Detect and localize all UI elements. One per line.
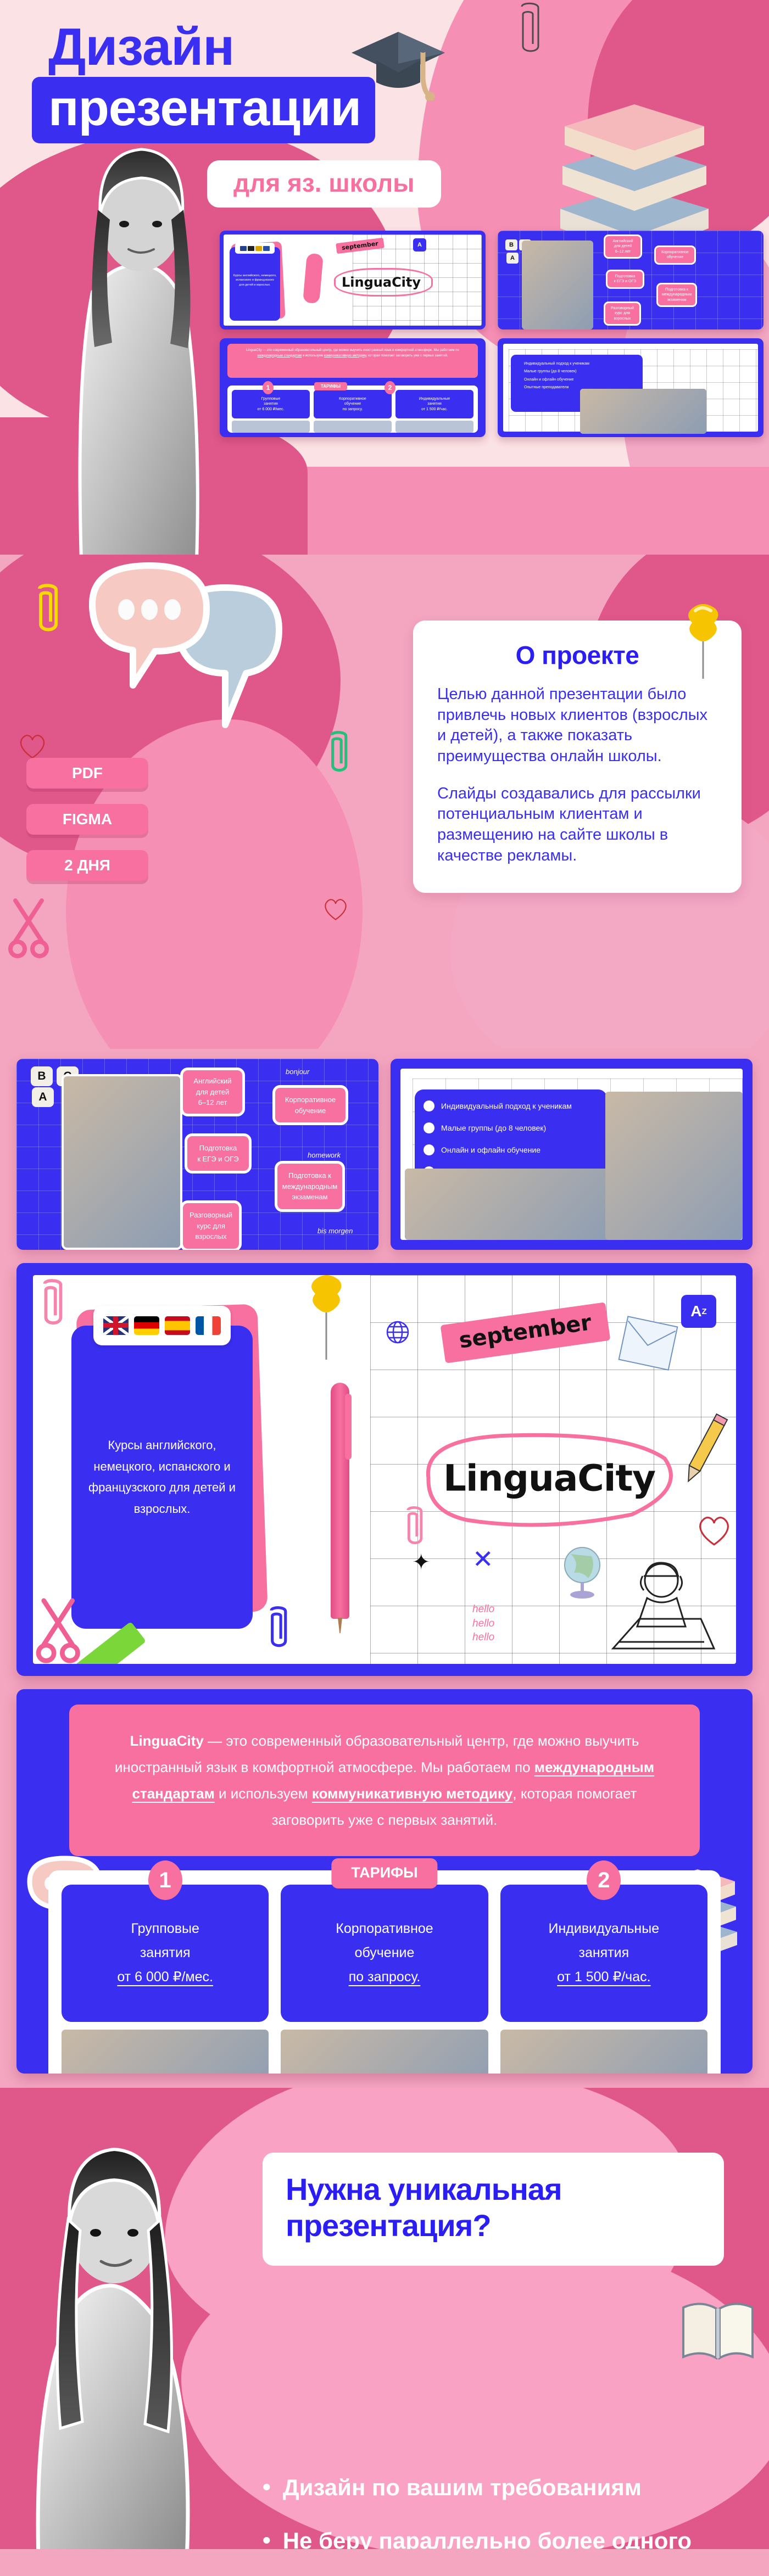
brand-lockup: LinguaCity [406,1423,692,1533]
course-card-ege: Подготовкак ЕГЭ и ОГЭ [185,1133,252,1174]
globe-icon [384,1319,411,1345]
push-pin-icon [679,599,727,681]
thumbnail-slide-benefits[interactable]: Индивидуальный подход к ученикам Малые г… [498,338,764,437]
heart-icon [261,1395,286,1450]
bullet-dot-icon: • [263,2525,271,2549]
cta-bullet-1: • Дизайн по вашим требованиям [263,2472,713,2504]
paperclip-icon [401,1506,427,1550]
cta-card: Нужна уникальная презентация? [263,2153,724,2266]
tariff-photo-1 [62,2030,269,2074]
benefit-item-2: Малые группы (до 8 человек) [441,1124,546,1132]
cta-bullet-text-2: Не беру параллельно более одного проекта [283,2525,713,2549]
course-card-international: Подготовка кмеждународнымэкзаменам [275,1161,345,1212]
tag-duration[interactable]: 2 ДНЯ [26,850,148,881]
sparkle-icon: ✦ [412,1550,431,1575]
slide-tariffs-large[interactable]: LinguaCity — это современный образовател… [16,1689,753,2074]
paperclip-icon [36,1278,68,1331]
doodle-bonjour: bonjour [286,1068,309,1076]
tariff-column-2: ТАРИФЫ Корпоративноеобучение по запросу. [281,1885,488,2074]
tariff-badge-1: 1 [148,1860,182,1900]
student-laptop-icon [597,1554,723,1658]
bullet-dot-icon: • [263,2472,271,2504]
flag-france-icon [196,1316,221,1335]
slide-thumbnail-grid: Курсы английского, немецкого, испанского… [220,231,764,437]
slide-courses[interactable]: B C A Английскийдля детей6–12 лет Корпор… [16,1059,378,1250]
thumbnail-slide-courses[interactable]: B C A Английскийдля детей6–12 лет Корпор… [498,231,764,329]
tariff-photo-2 [281,2030,488,2074]
tariff-title-2: Корпоративноеобучение [336,1917,433,1965]
language-flags [93,1306,231,1345]
slide-benefits[interactable]: Индивидуальный подход к ученикам Малые г… [391,1059,753,1250]
doodle-hello: hellohellohello [472,1602,494,1645]
tag-tool-figma[interactable]: FIGMA [26,804,148,835]
tariff-card-group: Групповыезанятия от 6 000 ₽/мес. [62,1885,269,2022]
tariffs-label-badge: ТАРИФЫ [331,1858,437,1888]
showcase-section: B C A Английскийдля детей6–12 лет Корпор… [0,1049,769,2074]
notebook-paper: Курсы английского, немецкого, испанского… [33,1275,736,1664]
tariff-column-3: 2 Индивидуальныезанятия от 1 500 ₽/час. [500,1885,707,2074]
pencil-icon [676,1412,731,1495]
thumbnail-slide-tariffs[interactable]: LinguaCity — это современный образовател… [220,338,486,437]
tariffs-intro: LinguaCity — это современный образовател… [69,1705,700,1856]
brand-inline: LinguaCity [130,1733,204,1749]
tariff-cards: 1 Групповыезанятия от 6 000 ₽/мес. ТАРИФ… [48,1870,721,2074]
about-card: О проекте Целью данной презентации было … [413,621,742,893]
open-book-icon [677,2296,759,2368]
flag-spain-icon [165,1316,190,1335]
tariff-price-2: по запросу. [349,1965,421,1990]
envelope-icon [615,1310,681,1376]
heart-icon [16,730,48,760]
cover-blue-card: Курсы английского, немецкого, испанского… [71,1326,253,1629]
scissors-icon [5,895,55,961]
cover-courses-text: Курсы английского, немецкого, испанского… [71,1435,253,1519]
tag-format-pdf[interactable]: PDF [26,758,148,789]
project-tags: PDF FIGMA 2 ДНЯ [26,758,148,881]
portfolio-page: Дизайн презентации для яз. школы [0,0,769,2549]
course-card-children: Английскийдля детей6–12 лет [180,1068,245,1116]
cta-section: Нужна уникальная презентация? • Дизайн п… [0,2088,769,2549]
cta-bullets: • Дизайн по вашим требованиям • Не беру … [263,2472,713,2549]
course-card-speaking: Разговорныйкурс длявзрослых [180,1200,242,1250]
hero-subtitle-text: для яз. школы [233,168,415,198]
tariff-title-3: Индивидуальныезанятия [549,1917,660,1965]
intro-methodology: коммуникативную методику [312,1785,513,1802]
tariff-badge-2: 2 [587,1860,621,1900]
tariff-price-1: от 6 000 ₽/мес. [117,1965,213,1990]
tariff-card-individual: Индивидуальныезанятия от 1 500 ₽/час. [500,1885,707,2022]
cta-bullet-text-1: Дизайн по вашим требованиям [283,2472,642,2504]
cta-title-line1: Нужна уникальная [286,2171,701,2208]
flag-germany-icon [134,1316,159,1335]
tariff-column-1: 1 Групповыезанятия от 6 000 ₽/мес. [62,1885,269,2074]
paperclip-icon [511,0,549,60]
heart-icon [321,895,350,921]
hero-title-line1: Дизайн [48,21,234,74]
pen-icon [331,1383,349,1619]
benefit-item-1: Индивидуальный подход к ученикам [441,1102,572,1110]
cta-bullet-2: • Не беру параллельно более одного проек… [263,2525,713,2549]
hero-subtitle-badge: для яз. школы [207,160,441,208]
speech-bubbles-icon [81,560,317,780]
scissors-icon [33,1595,90,1664]
slide-cover-large[interactable]: Курсы английского, немецкого, испанского… [16,1263,753,1676]
brand-name: LinguaCity [443,1457,655,1500]
doodle-homework: homework [308,1151,341,1159]
doodle-bismorgen: bis morgen [317,1227,353,1235]
cta-title-line2: презентация? [286,2208,701,2244]
designer-portrait-2 [22,2121,203,2549]
slide-pair-row: B C A Английскийдля детей6–12 лет Корпор… [16,1049,753,1250]
paperclip-icon [264,1606,292,1653]
paperclip-icon [324,730,353,778]
tariff-card-corporate: Корпоративноеобучение по запросу. [281,1885,488,2022]
translate-icon: AZ [681,1295,716,1328]
about-section: PDF FIGMA 2 ДНЯ О проекте Целью данной п… [0,555,769,1049]
designer-portrait [59,127,219,555]
course-card-corporate: Корпоративноеобучение [272,1085,348,1125]
tariff-price-3: от 1 500 ₽/час. [557,1965,650,1990]
hero-section: Дизайн презентации для яз. школы [0,0,769,555]
intro-part-4: и используем [215,1785,312,1802]
about-title: О проекте [437,640,717,670]
push-pin-icon [302,1275,350,1363]
benefit-item-3: Онлайн и офлайн обучение [441,1145,540,1154]
tariff-photo-3 [500,2030,707,2074]
flag-uk-icon [103,1316,129,1335]
paperclip-icon [31,583,64,638]
tariff-title-1: Групповыезанятия [131,1917,199,1965]
thumbnail-slide-cover[interactable]: Курсы английского, немецкого, испанского… [220,231,486,329]
about-paragraph-2: Слайды создавались для рассылки потенциа… [437,784,717,867]
x-mark-icon: ✕ [472,1544,494,1574]
heart-icon [695,1511,733,1547]
about-paragraph-1: Целью данной презентации было привлечь н… [437,684,717,767]
